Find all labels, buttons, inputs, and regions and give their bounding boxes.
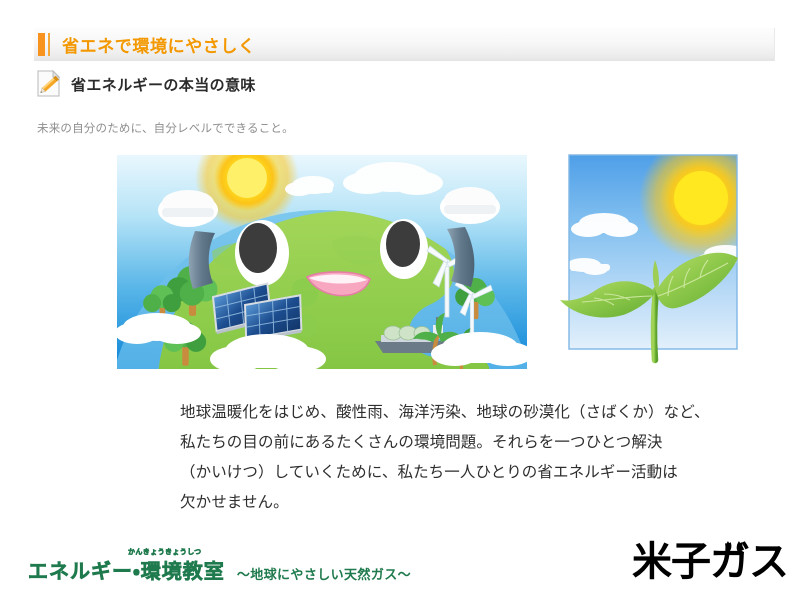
program-logo-tagline: 〜地球にやさしい天然ガス〜 [237, 568, 411, 582]
program-logo: かんきょうきょうしつ エネルギー・環境教室 〜地球にやさしい天然ガス〜 [28, 548, 411, 582]
smiling-earth-illustration [117, 155, 527, 369]
body-line: （かいけつ）していくために、私たち一人ひとりの省エネルギー活動は [180, 458, 750, 488]
lead-text: 未来の自分のために、自分レベルでできること。 [37, 120, 294, 136]
flame-icon [722, 537, 746, 553]
program-logo-furigana: かんきょうきょうしつ [128, 549, 202, 556]
company-name: 米子ガス [632, 542, 788, 582]
header-accent-bar-thin [48, 33, 50, 56]
earth-illustration-svg [117, 155, 527, 369]
document-pencil-icon [36, 70, 62, 98]
sprout-illustration-svg [560, 150, 746, 372]
program-logo-main: かんきょうきょうしつ エネルギー・環境教室 [28, 562, 225, 582]
page-header-bar: 省エネで環境にやさしく [34, 28, 775, 61]
sprout-leaf-photo [560, 150, 746, 372]
section-subtitle-text: 省エネルギーの本当の意味 [71, 74, 256, 95]
body-line: 欠かせません。 [180, 488, 750, 518]
header-accent-bar [38, 33, 45, 56]
body-paragraph: 地球温暖化をはじめ、酸性雨、海洋汚染、地球の砂漠化（さばくか）など、 私たちの目… [180, 398, 750, 518]
company-name-text: 米子ガス [632, 539, 788, 585]
program-logo-text: エネルギー・環境教室 [28, 561, 225, 583]
page-title: 省エネで環境にやさしく [62, 32, 256, 57]
body-line: 地球温暖化をはじめ、酸性雨、海洋汚染、地球の砂漠化（さばくか）など、 [180, 398, 750, 428]
section-subtitle-row: 省エネルギーの本当の意味 [36, 70, 256, 98]
body-line: 私たちの目の前にあるたくさんの環境問題。それらを一つひとつ解決 [180, 428, 750, 458]
company-logo: 米子ガス [632, 542, 788, 582]
